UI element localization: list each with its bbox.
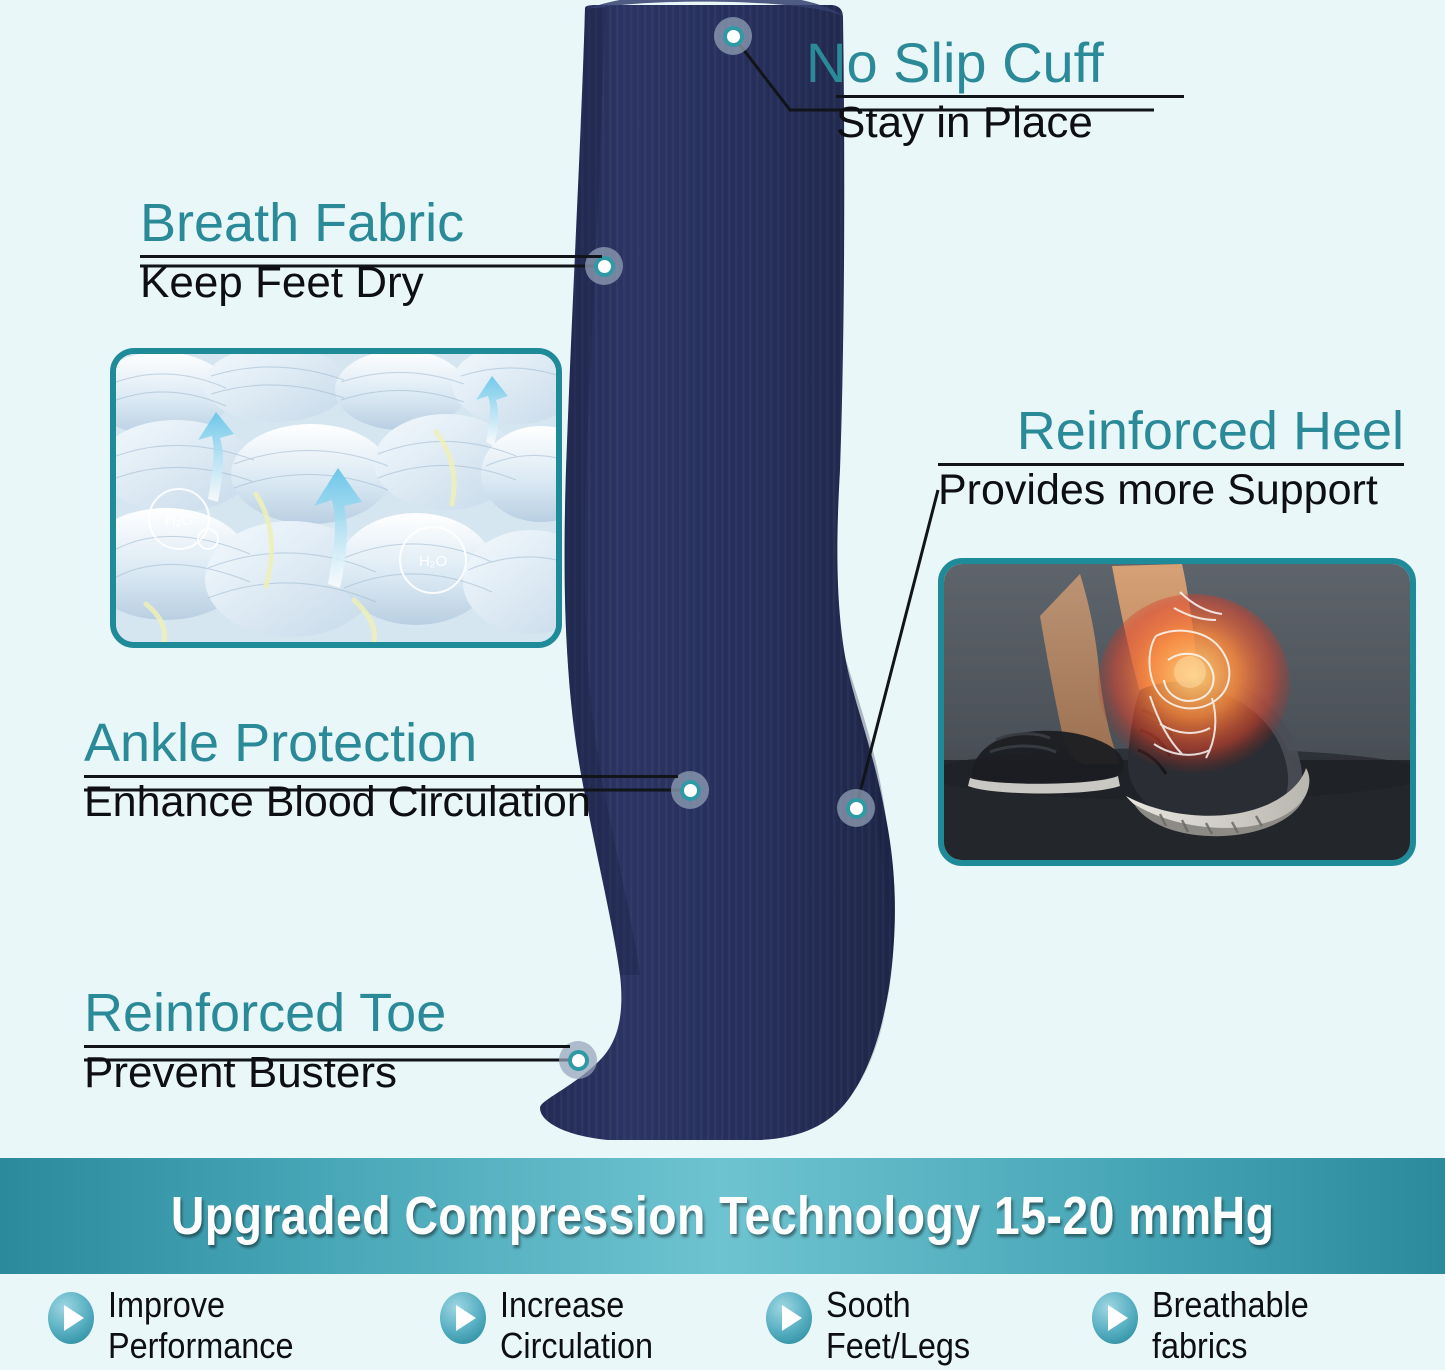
play-icon <box>48 1292 94 1344</box>
feature-item[interactable]: Breathable fabrics <box>1092 1284 1326 1366</box>
feature-label: Increase Circulation <box>500 1284 653 1366</box>
feature-label: Improve Performance <box>108 1284 293 1366</box>
feature-item[interactable]: Improve Performance <box>48 1284 314 1366</box>
feature-item[interactable]: Sooth Feet/Legs <box>766 1284 986 1366</box>
callout-subtitle: Keep Feet Dry <box>140 260 602 306</box>
h2o-label: H₂O <box>165 512 193 529</box>
feature-item[interactable]: Increase Circulation <box>440 1284 670 1366</box>
fabric-closeup-photo: H₂O H₂O <box>110 348 562 648</box>
callout-subtitle: Enhance Blood Circulation <box>84 780 678 825</box>
feature-list: Improve Performance Increase Circulation… <box>0 1284 1445 1370</box>
compression-banner: Upgraded Compression Technology 15-20 mm… <box>0 1158 1445 1274</box>
callout-ankle-protection: Ankle Protection Enhance Blood Circulati… <box>84 716 678 825</box>
callout-title: No Slip Cuff <box>806 34 1184 91</box>
callout-subtitle: Provides more Support <box>938 468 1404 513</box>
sock-left-shadow <box>565 8 640 975</box>
feature-label: Breathable fabrics <box>1152 1284 1309 1366</box>
sock-cuff-edge <box>585 0 843 16</box>
callout-subtitle: Stay in Place <box>836 100 1184 146</box>
feature-label: Sooth Feet/Legs <box>826 1284 970 1366</box>
callout-no-slip-cuff: No Slip Cuff Stay in Place <box>806 34 1184 146</box>
callout-dot-heel[interactable] <box>837 789 875 827</box>
callout-breath-fabric: Breath Fabric Keep Feet Dry <box>140 196 602 306</box>
callout-reinforced-heel: Reinforced Heel Provides more Support <box>938 404 1404 513</box>
callout-dot-cuff[interactable] <box>714 17 752 55</box>
sock-rib-texture <box>540 5 895 1140</box>
callout-title: Breath Fabric <box>140 196 602 251</box>
ankle-support-photo <box>938 558 1416 866</box>
callout-title: Ankle Protection <box>84 716 678 771</box>
sock-heel-shadow <box>846 660 895 1086</box>
callout-subtitle: Prevent Busters <box>84 1050 570 1096</box>
play-icon <box>440 1292 486 1344</box>
product-infographic: No Slip Cuff Stay in Place Breath Fabric… <box>0 0 1445 1370</box>
sock-body <box>540 5 895 1140</box>
h2o-label: H₂O <box>419 553 447 570</box>
callout-title: Reinforced Toe <box>84 986 570 1041</box>
play-icon <box>766 1292 812 1344</box>
callout-title: Reinforced Heel <box>938 404 1404 459</box>
play-icon <box>1092 1292 1138 1344</box>
banner-text: Upgraded Compression Technology 15-20 mm… <box>171 1185 1275 1247</box>
leader-line-heel <box>856 490 938 808</box>
callout-reinforced-toe: Reinforced Toe Prevent Busters <box>84 986 570 1096</box>
